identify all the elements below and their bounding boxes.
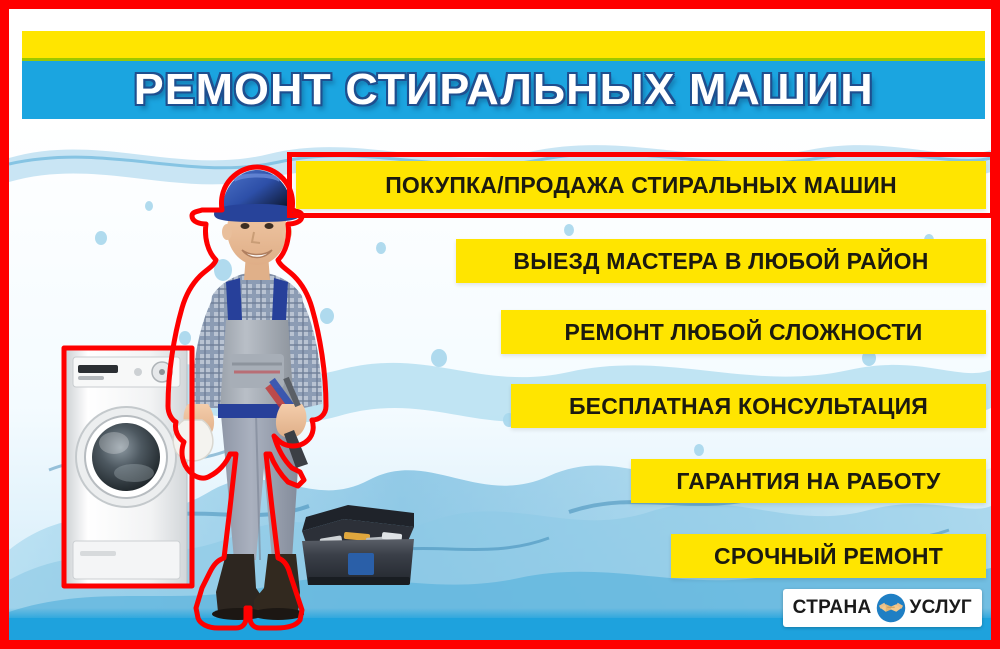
handshake-icon xyxy=(876,593,906,623)
feature-bar-urgent-repair[interactable]: СРОЧНЫЙ РЕМОНТ xyxy=(671,534,986,578)
feature-bar-buy-sell[interactable]: ПОКУПКА/ПРОДАЖА СТИРАЛЬНЫХ МАШИН xyxy=(296,161,986,209)
repair-technician-photo xyxy=(168,168,346,640)
feature-bar-label: СРОЧНЫЙ РЕМОНТ xyxy=(714,543,943,570)
feature-bar-label: ВЫЕЗД МАСТЕРА В ЛЮБОЙ РАЙОН xyxy=(513,248,928,275)
feature-bar-master-visit[interactable]: ВЫЕЗД МАСТЕРА В ЛЮБОЙ РАЙОН xyxy=(456,239,986,283)
logo-word-right: УСЛУГ xyxy=(910,597,973,619)
banner-blue-strip: РЕМОНТ СТИРАЛЬНЫХ МАШИН xyxy=(22,61,985,119)
feature-bar-label: РЕМОНТ ЛЮБОЙ СЛОЖНОСТИ xyxy=(564,319,922,346)
header-banner: РЕМОНТ СТИРАЛЬНЫХ МАШИН xyxy=(22,31,985,119)
feature-bar-work-guarantee[interactable]: ГАРАНТИЯ НА РАБОТУ xyxy=(631,459,986,503)
banner-yellow-strip xyxy=(22,31,985,61)
site-watermark-logo[interactable]: СТРАНА УСЛУГ xyxy=(783,589,982,627)
feature-bar-free-consultation[interactable]: БЕСПЛАТНАЯ КОНСУЛЬТАЦИЯ xyxy=(511,384,986,428)
feature-bar-any-complexity[interactable]: РЕМОНТ ЛЮБОЙ СЛОЖНОСТИ xyxy=(501,310,986,354)
feature-bar-label: ГАРАНТИЯ НА РАБОТУ xyxy=(676,468,940,495)
feature-bar-label: БЕСПЛАТНАЯ КОНСУЛЬТАЦИЯ xyxy=(569,393,928,420)
logo-word-left: СТРАНА xyxy=(793,597,872,619)
page-title: РЕМОНТ СТИРАЛЬНЫХ МАШИН xyxy=(134,65,874,115)
feature-bar-label: ПОКУПКА/ПРОДАЖА СТИРАЛЬНЫХ МАШИН xyxy=(385,172,897,199)
advertisement-poster: РЕМОНТ СТИРАЛЬНЫХ МАШИН ПОКУПКА/ПРОДАЖА … xyxy=(0,0,1000,649)
